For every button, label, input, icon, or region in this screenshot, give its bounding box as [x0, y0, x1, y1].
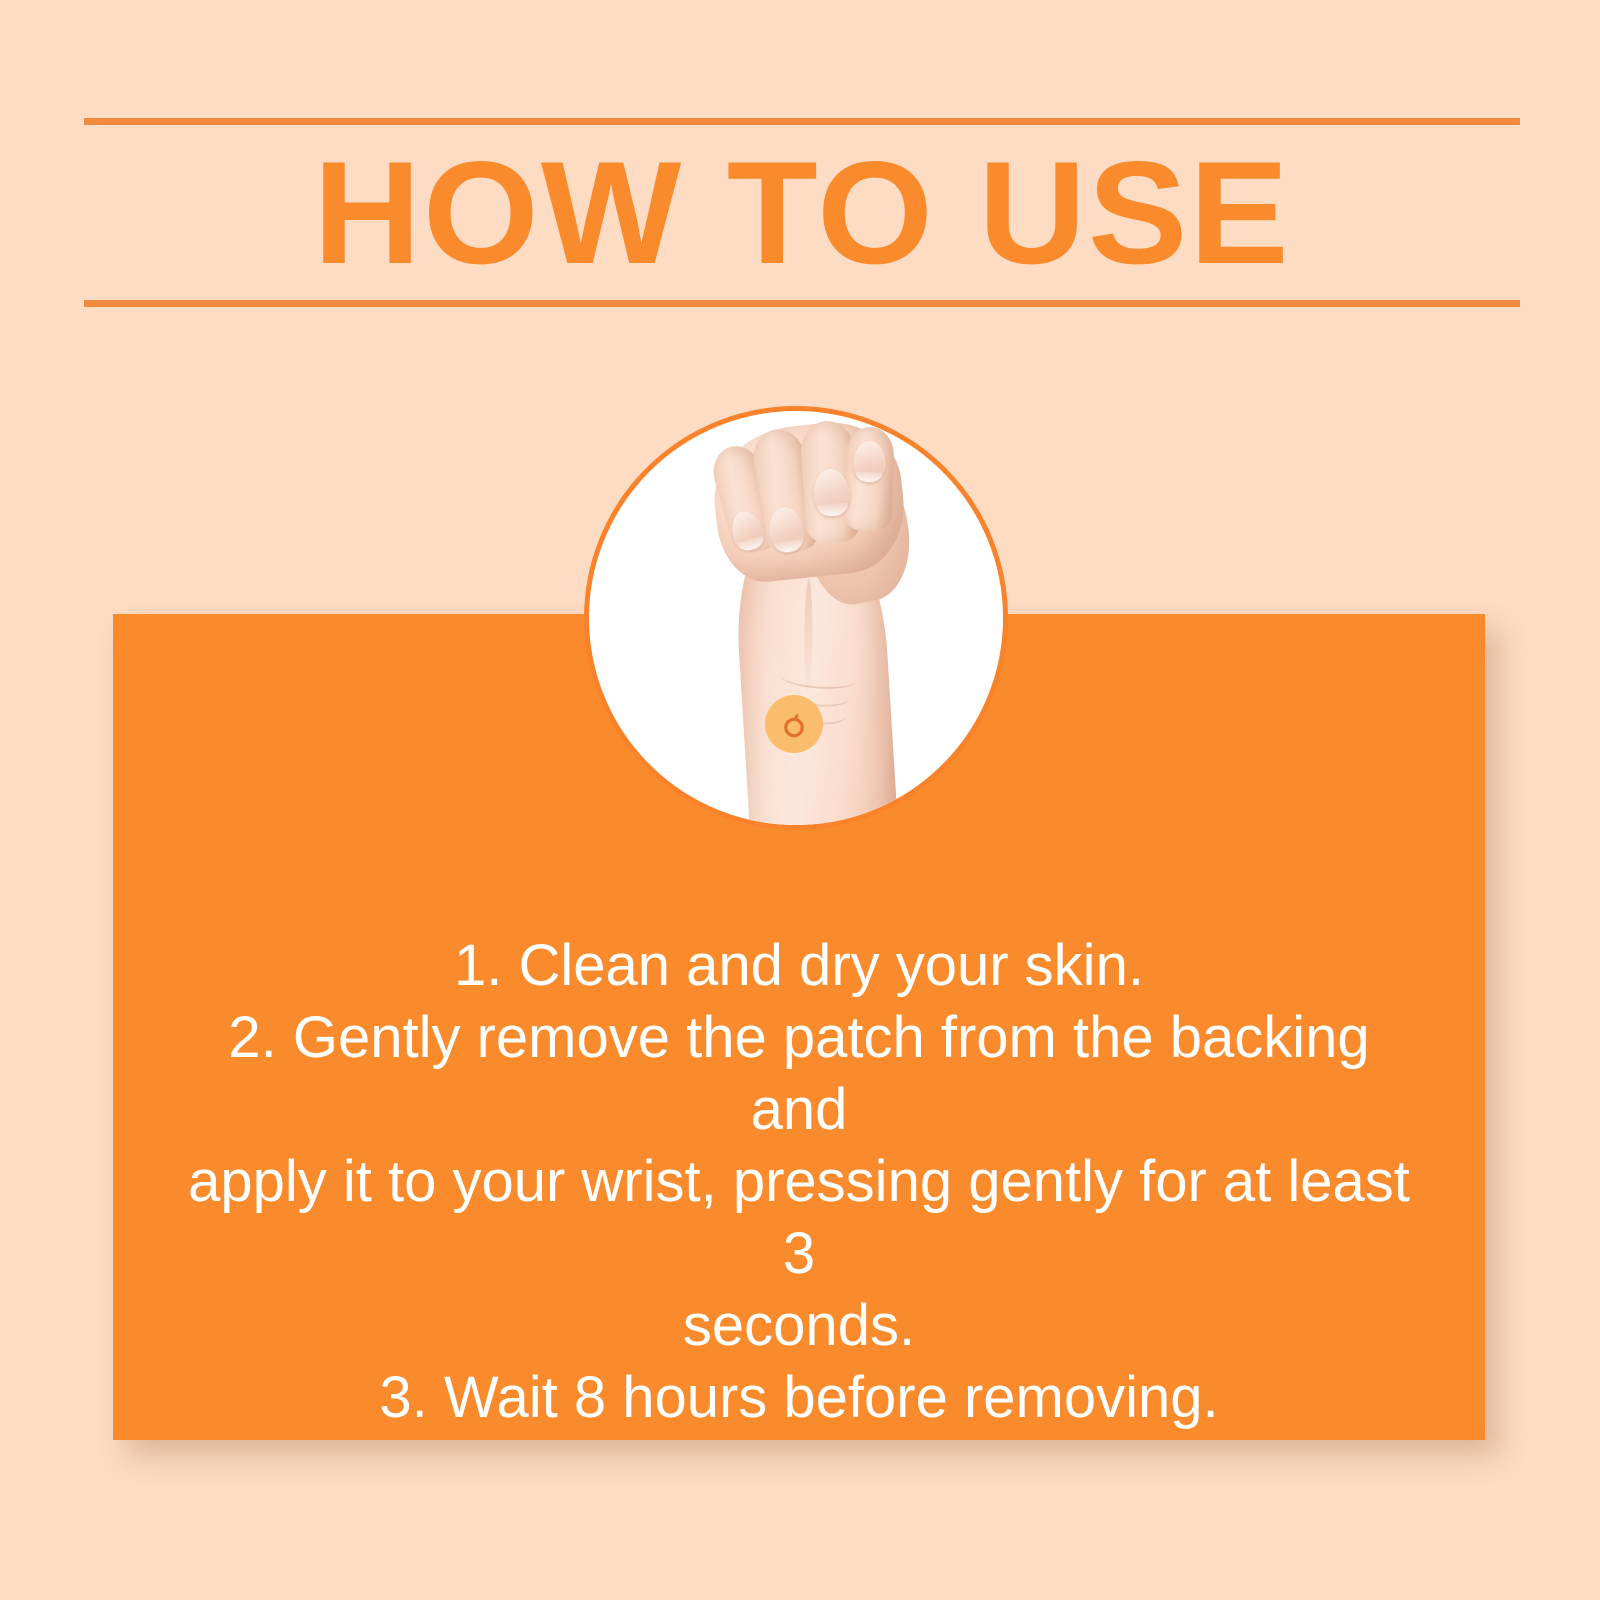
hand-wrist-photo: [589, 411, 1003, 825]
instruction-line-5: 3. Wait 8 hours before removing.: [183, 1362, 1415, 1434]
instructions-list: 1. Clean and dry your skin. 2. Gently re…: [113, 930, 1485, 1434]
instruction-line-1: 1. Clean and dry your skin.: [183, 930, 1415, 1002]
product-photo-medallion: [584, 406, 1008, 830]
instruction-line-3: apply it to your wrist, pressing gently …: [183, 1146, 1415, 1290]
page-title: HOW TO USE: [70, 125, 1535, 300]
title-rule-bottom: [84, 300, 1520, 307]
instruction-line-4: seconds.: [183, 1290, 1415, 1362]
how-to-use-infographic: HOW TO USE 1. Clean and dry your skin. 2…: [0, 0, 1600, 1600]
title-rule-top: [84, 118, 1520, 125]
peach-fruit-icon: [777, 707, 811, 741]
wrist-patch-sticker: [765, 695, 823, 753]
instruction-line-2: 2. Gently remove the patch from the back…: [183, 1002, 1415, 1146]
title-block: HOW TO USE: [84, 118, 1520, 307]
